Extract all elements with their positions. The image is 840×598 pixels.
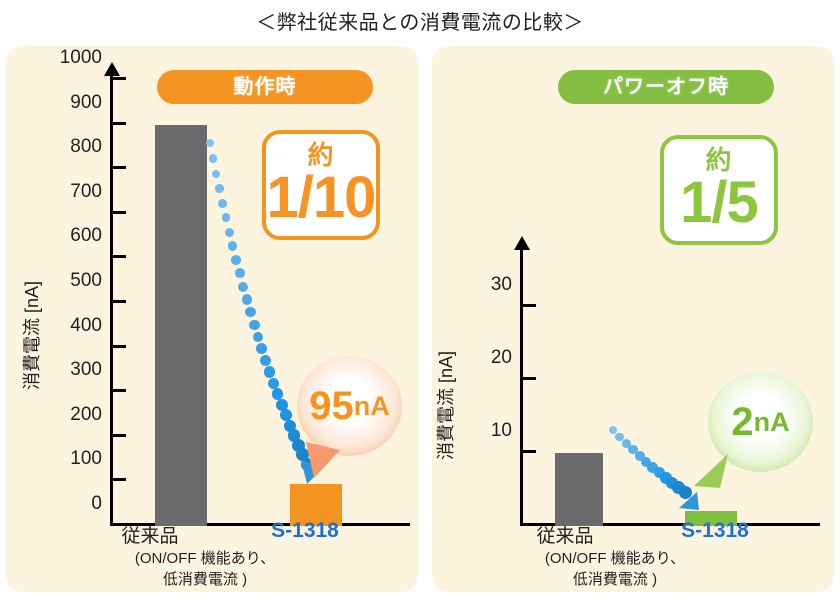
- ratio-value: 1/5: [664, 175, 774, 231]
- y-axis-tick: [113, 300, 126, 303]
- y-axis-tick: [523, 450, 536, 453]
- y-axis-tick: [523, 377, 536, 380]
- y-axis-tick-label: 900: [52, 92, 102, 114]
- mode-pill-power-off: パワーオフ時: [558, 70, 774, 104]
- trend-arrow-dot: [228, 241, 237, 250]
- y-axis-tick-label: 400: [52, 315, 102, 337]
- trend-arrow-dot: [222, 213, 231, 222]
- y-axis-tick: [113, 122, 126, 125]
- callout-unit-right: nA: [754, 407, 790, 438]
- trend-arrow-dot: [242, 294, 252, 304]
- y-axis-tick: [113, 434, 126, 437]
- y-axis-tick: [113, 389, 126, 392]
- y-axis-label-left: 消費電流 [nA]: [18, 281, 44, 390]
- trend-arrow-dot: [238, 282, 248, 292]
- callout-unit-left: nA: [354, 391, 390, 422]
- trend-arrow-dot: [231, 255, 241, 265]
- y-axis-tick: [523, 304, 536, 307]
- callout-tail-left: [300, 440, 346, 480]
- trend-arrow-dot: [206, 139, 214, 147]
- y-axis-tick: [113, 345, 126, 348]
- trend-arrow-dot: [235, 268, 245, 278]
- y-axis-tick-label: 30: [468, 274, 512, 296]
- y-axis-tick-label: 20: [468, 347, 512, 369]
- y-axis-tick: [113, 77, 126, 80]
- category-label-s1318-left: S-1318: [235, 519, 375, 543]
- trend-arrow-dot: [264, 366, 275, 377]
- bar-conventional: [155, 125, 207, 526]
- trend-arrow-dot: [212, 170, 220, 178]
- trend-arrow-dot: [268, 378, 279, 389]
- category-label-conventional-right: 従来品: [505, 521, 625, 548]
- y-axis-tick: [113, 211, 126, 214]
- category-label-conventional-left: 従来品: [90, 521, 210, 548]
- trend-arrow-dot: [218, 199, 227, 208]
- y-axis-tick-label: 200: [52, 404, 102, 426]
- y-axis-tick: [113, 255, 126, 258]
- chart-operating: 01002003004005006007008009001000: [60, 66, 410, 526]
- caption-line2-left: 低消費電流 ): [60, 569, 350, 590]
- page-title: ＜弊社従来品との消費電流の比較＞: [0, 6, 840, 35]
- y-axis-tick: [113, 478, 126, 481]
- trend-arrow-dot: [249, 320, 260, 331]
- trend-arrow-dot: [209, 154, 217, 162]
- trend-arrow-dot: [256, 343, 267, 354]
- y-axis-tick: [113, 166, 126, 169]
- y-axis-label-right: 消費電流 [nA]: [432, 351, 458, 460]
- trend-arrow-dot: [253, 332, 264, 343]
- y-axis-tick-label: 700: [52, 181, 102, 203]
- y-axis-tick-label: 10: [468, 420, 512, 442]
- trend-arrow-dot: [245, 307, 255, 317]
- y-axis-tick-label: 0: [52, 493, 102, 515]
- trend-arrow-dot: [215, 184, 224, 193]
- caption-line1-left: (ON/OFF 機能あり、: [60, 548, 350, 569]
- trend-arrow-dot: [260, 355, 271, 366]
- y-axis-tick-label: 800: [52, 136, 102, 158]
- trend-arrow-dot: [225, 228, 234, 237]
- y-axis-arrow-icon: [514, 236, 530, 250]
- y-axis-tick-label: 100: [52, 448, 102, 470]
- y-axis-tick-label: 300: [52, 359, 102, 381]
- callout-number-right: 2: [731, 400, 753, 445]
- callout-tail-right: [690, 452, 734, 494]
- callout-number-left: 95: [309, 384, 354, 429]
- caption-line2-right: 低消費電流 ): [470, 569, 760, 590]
- ratio-box-power-off: 約 1/5: [660, 135, 778, 245]
- category-label-s1318-right: S-1318: [645, 519, 785, 543]
- y-axis-tick-label: 500: [52, 270, 102, 292]
- y-axis-arrow-icon: [104, 62, 120, 76]
- caption-line1-right: (ON/OFF 機能あり、: [470, 548, 760, 569]
- y-axis-tick-label: 1000: [52, 47, 102, 69]
- y-axis-tick-label: 600: [52, 225, 102, 247]
- bar-conventional: [555, 453, 603, 526]
- y-axis-line: [520, 250, 523, 526]
